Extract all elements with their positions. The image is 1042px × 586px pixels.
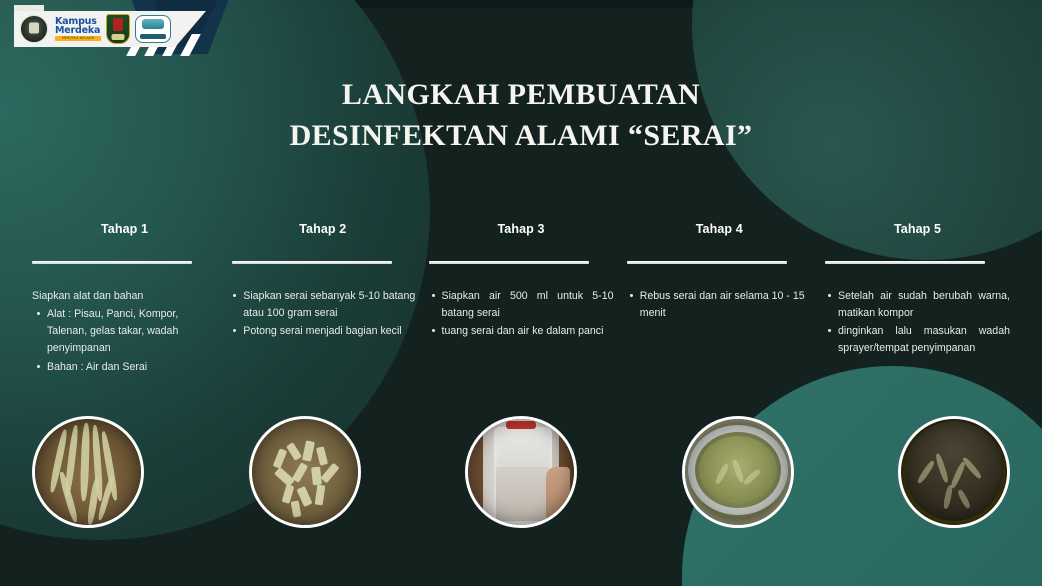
presentation-slide: Kampus Merdeka MERDEKA BELAJAR LANGKAH P… [0,0,1042,586]
steps-container: Tahap 1 Siapkan alat dan bahan Alat : Pi… [32,222,1010,377]
photo-boiling-pot [682,416,794,528]
step-column-2: Tahap 2 Siapkan serai sebanyak 5-10 bata… [230,222,415,377]
list-item: dinginkan lalu masukan wadah sprayer/tem… [838,323,1010,357]
photo-chopped-lemongrass [249,416,361,528]
step-heading: Tahap 1 [32,222,217,236]
step-bullet-list: Alat : Pisau, Panci, Kompor, Talenan, ge… [32,306,217,376]
step-heading: Tahap 3 [429,222,614,236]
logo-banner: Kampus Merdeka MERDEKA BELAJAR [14,11,206,47]
step-body: Setelah air sudah berubah warna, matikan… [825,288,1010,358]
step-column-4: Tahap 4 Rebus serai dan air selama 10 - … [627,222,812,377]
photo-water-bottle [465,416,577,528]
regional-crest-logo [106,14,130,44]
photos-container [32,416,1010,528]
list-item: tuang serai dan air ke dalam panci [442,323,614,340]
step-divider [825,261,985,264]
list-item: Alat : Pisau, Panci, Kompor, Talenan, ge… [47,306,217,357]
list-item: Siapkan air 500 ml untuk 5-10 batang ser… [442,288,614,322]
list-item: Potong serai menjadi bagian kecil [243,323,415,340]
kampus-merdeka-tagline: MERDEKA BELAJAR [55,36,101,41]
title-line-2: DESINFEKTAN ALAMI “SERAI” [0,115,1042,156]
list-item: Setelah air sudah berubah warna, matikan… [838,288,1010,322]
step-divider [32,261,192,264]
banner-tab-decoration [14,5,44,12]
step-column-3: Tahap 3 Siapkan air 500 ml untuk 5-10 ba… [429,222,614,377]
kampus-merdeka-line2: Merdeka [55,26,101,35]
title-line-1: LANGKAH PEMBUATAN [342,78,700,111]
list-item: Bahan : Air dan Serai [47,359,217,376]
step-heading: Tahap 5 [825,222,1010,236]
step-heading: Tahap 2 [230,222,415,236]
step-divider [627,261,787,264]
step-lead-text: Siapkan alat dan bahan [32,288,217,305]
step-bullet-list: Rebus serai dan air selama 10 - 15 menit [627,288,812,322]
photo-lemongrass-stalks [32,416,144,528]
step-column-5: Tahap 5 Setelah air sudah berubah warna,… [825,222,1010,377]
list-item: Rebus serai dan air selama 10 - 15 menit [640,288,812,322]
step-divider [232,261,392,264]
step-body: Siapkan air 500 ml untuk 5-10 batang ser… [429,288,614,340]
step-bullet-list: Siapkan serai sebanyak 5-10 batang atau … [230,288,415,340]
step-body: Siapkan alat dan bahan Alat : Pisau, Pan… [32,288,217,376]
step-column-1: Tahap 1 Siapkan alat dan bahan Alat : Pi… [32,222,217,377]
university-seal-logo [20,15,48,43]
photo-finished-decoction [898,416,1010,528]
step-body: Rebus serai dan air selama 10 - 15 menit [627,288,812,322]
page-title: LANGKAH PEMBUATAN DESINFEKTAN ALAMI “SER… [0,74,1042,157]
step-bullet-list: Siapkan air 500 ml untuk 5-10 batang ser… [429,288,614,340]
step-divider [429,261,589,264]
step-body: Siapkan serai sebanyak 5-10 batang atau … [230,288,415,340]
step-bullet-list: Setelah air sudah berubah warna, matikan… [825,288,1010,358]
institution-badge-logo [135,15,171,43]
step-heading: Tahap 4 [627,222,812,236]
kampus-merdeka-logo: Kampus Merdeka MERDEKA BELAJAR [53,17,101,41]
list-item: Siapkan serai sebanyak 5-10 batang atau … [243,288,415,322]
